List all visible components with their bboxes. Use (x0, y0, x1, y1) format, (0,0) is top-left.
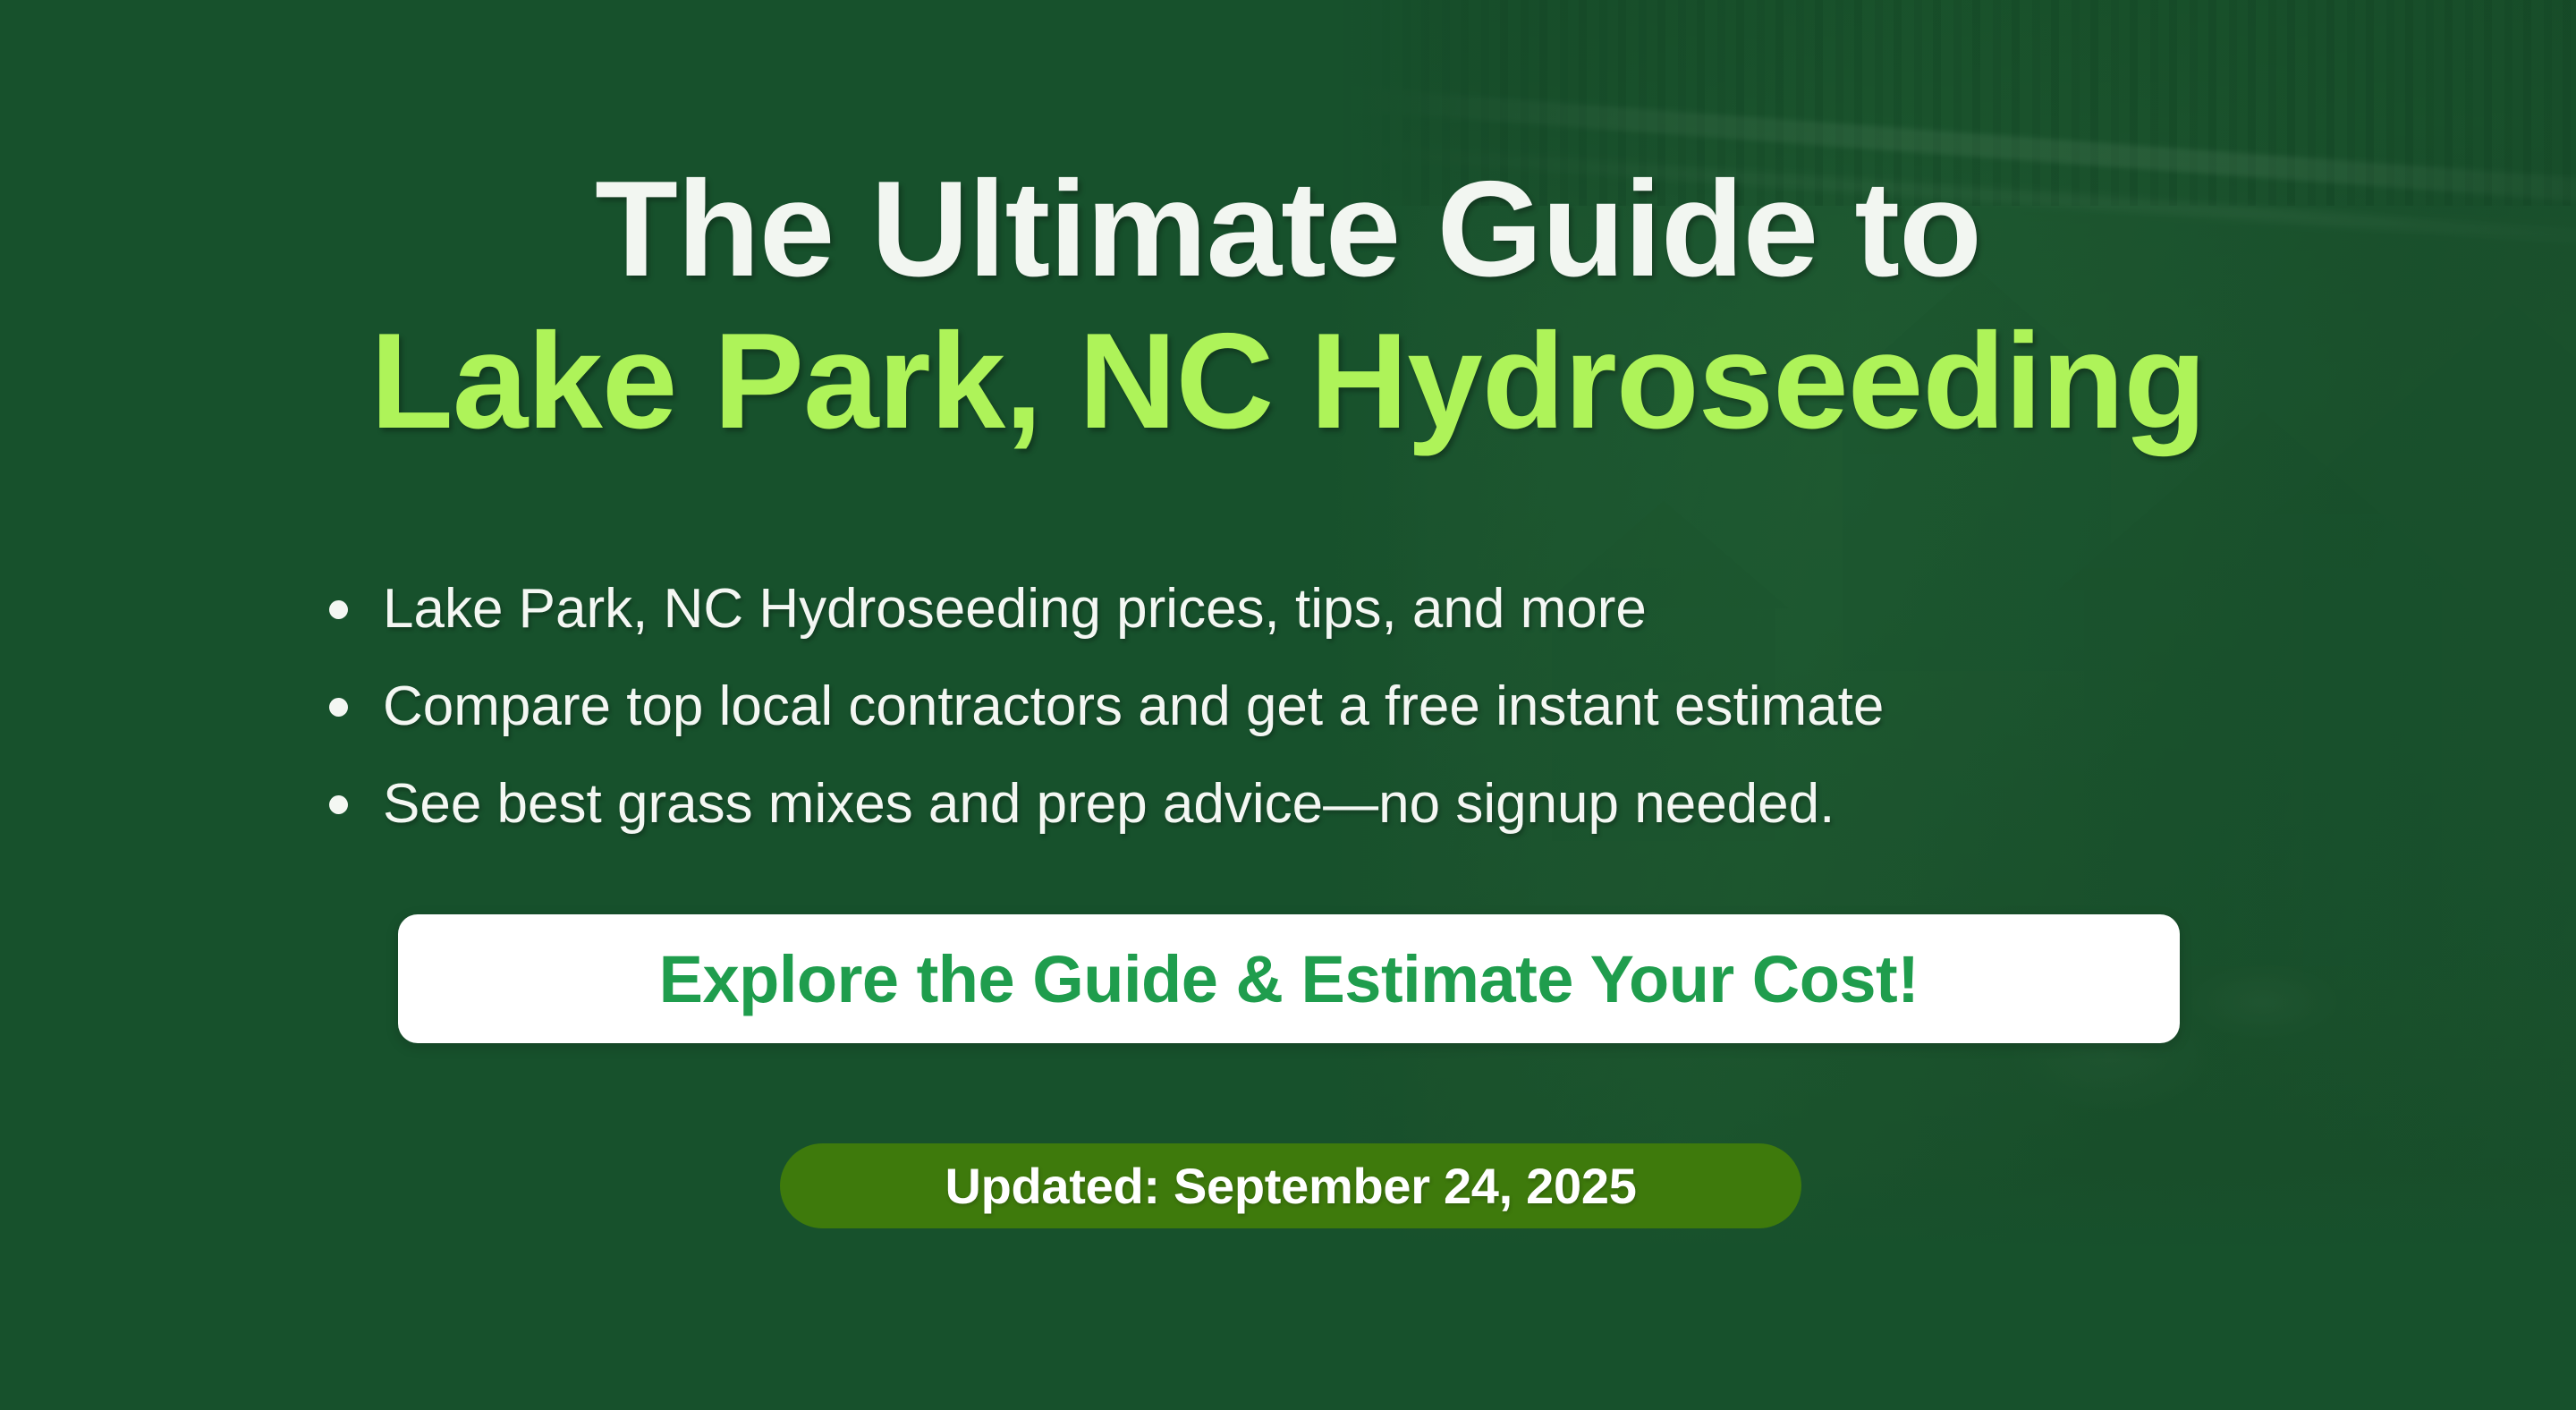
list-item-label: Lake Park, NC Hydroseeding prices, tips,… (383, 578, 1647, 640)
hero-title-line-1: The Ultimate Guide to (0, 161, 2576, 297)
hero-content: The Ultimate Guide to Lake Park, NC Hydr… (0, 0, 2576, 1410)
list-item: See best grass mixes and prep advice—no … (329, 777, 2297, 832)
hero-title-line-2: Lake Park, NC Hydroseeding (0, 313, 2576, 449)
hero-benefit-list: Lake Park, NC Hydroseeding prices, tips,… (329, 582, 2297, 874)
bullet-dot-icon (329, 600, 348, 619)
hero-banner: The Ultimate Guide to Lake Park, NC Hydr… (0, 0, 2576, 1410)
list-item-label: See best grass mixes and prep advice—no … (383, 773, 1835, 835)
list-item-label: Compare top local contractors and get a … (383, 675, 1884, 737)
explore-guide-cta-button[interactable]: Explore the Guide & Estimate Your Cost! (398, 914, 2180, 1043)
list-item: Lake Park, NC Hydroseeding prices, tips,… (329, 582, 2297, 637)
updated-date-badge: Updated: September 24, 2025 (780, 1143, 1801, 1228)
bullet-dot-icon (329, 795, 348, 814)
list-item: Compare top local contractors and get a … (329, 679, 2297, 735)
bullet-dot-icon (329, 698, 348, 717)
